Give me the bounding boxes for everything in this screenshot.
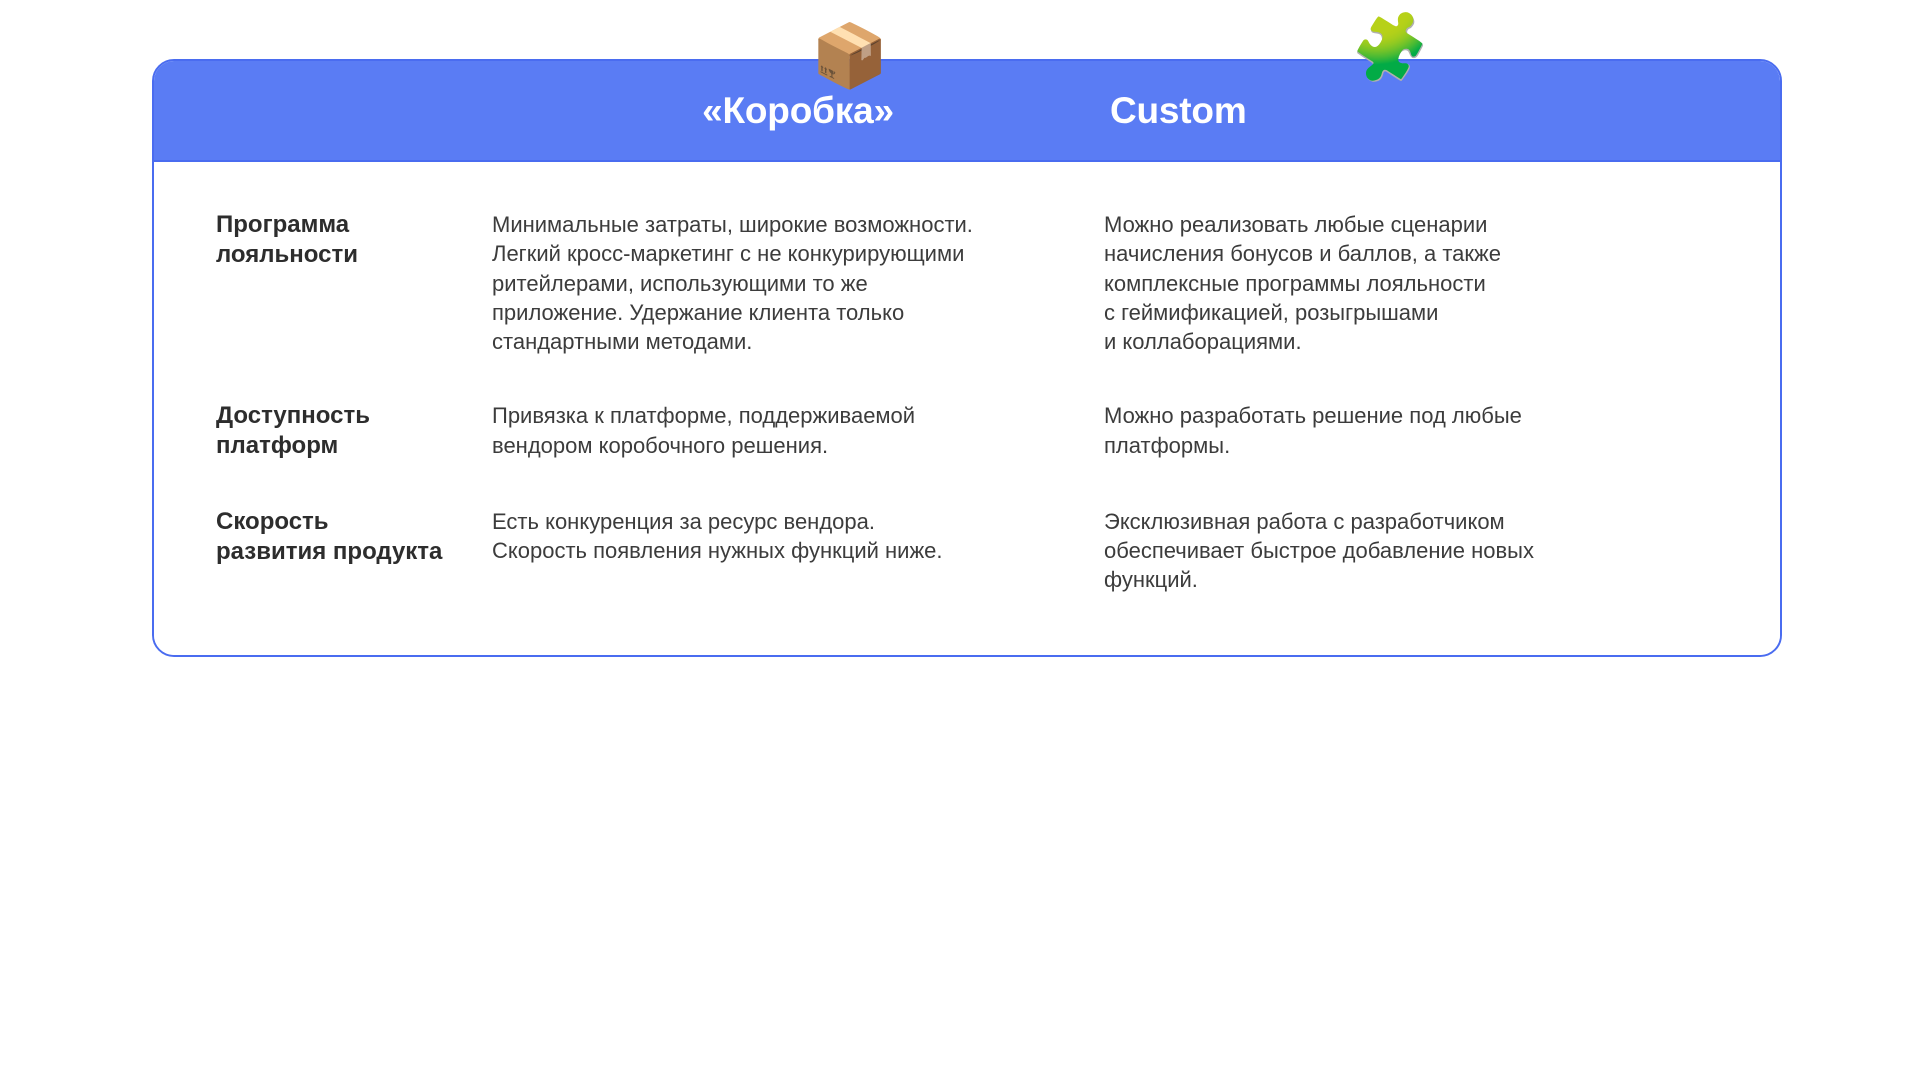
row-cell-box: Минимальные затраты, широкие возможности… (492, 210, 1104, 356)
header-cell-box: «Коробка» (492, 61, 1104, 160)
row-cell-custom: Можно реализовать любые сценарии начисле… (1104, 210, 1780, 356)
table-row: Доступность платформ Привязка к платформ… (154, 356, 1780, 461)
header-title-custom: Custom (1110, 92, 1247, 129)
table-row: Скорость развития продукта Есть конкурен… (154, 461, 1780, 655)
row-label: Скорость развития продукта (154, 507, 492, 567)
row-cell-custom: Можно разработать решение под любые плат… (1104, 401, 1780, 460)
header-title-box: «Коробка» (702, 92, 894, 129)
table-body: Программа лояльности Минимальные затраты… (154, 162, 1780, 655)
table-header-row: «Коробка» Custom 📦 🧩 (154, 61, 1780, 162)
page-canvas: «Коробка» Custom 📦 🧩 Программа лояльност… (0, 0, 1920, 1080)
comparison-table-card: «Коробка» Custom 📦 🧩 Программа лояльност… (152, 59, 1782, 657)
row-cell-box: Привязка к платформе, поддерживаемой вен… (492, 401, 1104, 460)
header-cell-custom: Custom (1104, 61, 1780, 160)
row-cell-box: Есть конкуренция за ресурс вендора. Скор… (492, 507, 1104, 566)
table-row: Программа лояльности Минимальные затраты… (154, 162, 1780, 356)
row-cell-custom: Эксклюзивная работа с разработчиком обес… (1104, 507, 1780, 595)
row-label: Программа лояльности (154, 210, 492, 270)
header-cell-criteria (154, 61, 492, 160)
row-label: Доступность платформ (154, 401, 492, 461)
package-emoji-icon: 📦 (811, 26, 888, 88)
